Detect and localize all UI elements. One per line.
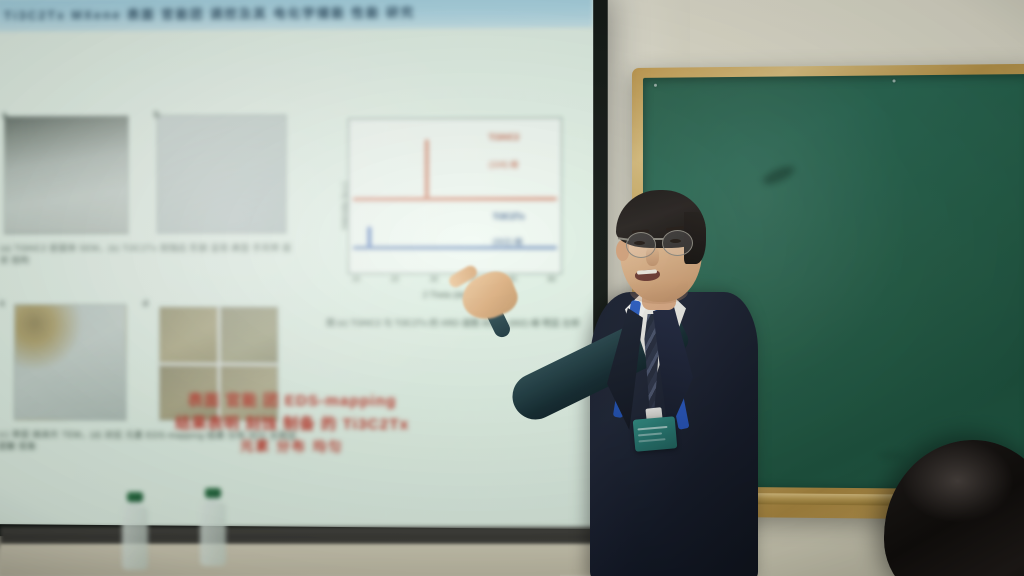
frame-screw xyxy=(654,84,657,87)
legend-ti3alc2: Ti3AlC2 xyxy=(489,133,520,142)
conclusion-text-3: 元素 分布 均匀 xyxy=(240,438,343,454)
chin-shadow xyxy=(630,280,688,304)
slide-title-text: Ti3C2Tx MXene 表面 官能团 调控及其 电化学储能 性能 研究 xyxy=(0,3,415,23)
bottle-cap xyxy=(205,488,221,498)
badge-text-line xyxy=(639,438,666,442)
bottle-body xyxy=(122,506,148,570)
panel-b-label: b xyxy=(154,109,160,119)
peak-104 xyxy=(425,139,429,200)
chart-ylabel: Intensity (a.u.) xyxy=(340,182,349,230)
conclusion-text-1: 表面 官能 团 EDS-mapping xyxy=(188,392,397,410)
bottle-cap xyxy=(127,492,143,502)
water-bottle xyxy=(122,492,150,576)
eyeglass-bridge xyxy=(653,238,663,240)
frame-screw xyxy=(892,79,895,82)
eyeglass-lens-right xyxy=(662,230,693,256)
eds-quadrant xyxy=(160,307,217,362)
bottle-body xyxy=(200,502,226,566)
annotation-104: (104) 峰 xyxy=(489,159,519,170)
presenter xyxy=(470,180,800,576)
presentation-photo-scene: Ti3C2Tx MXene 表面 官能团 调控及其 电化学储能 性能 研究 a … xyxy=(0,0,1024,576)
xtick: 10 xyxy=(352,276,360,283)
peak-002 xyxy=(367,227,371,249)
eye-right xyxy=(670,239,681,243)
panel-a-label: a xyxy=(2,110,7,120)
conference-badge xyxy=(633,416,678,452)
conclusion-text-2: 结果表明 刻蚀 制备 的 Ti3C2Tx xyxy=(175,415,409,433)
xtick: 30 xyxy=(430,276,438,283)
badge-text-line xyxy=(638,432,662,436)
eds-quadrant xyxy=(220,307,277,362)
xtick: 20 xyxy=(391,276,399,283)
slide-title-banner: Ti3C2Tx MXene 表面 官能团 调控及其 电化学储能 性能 研究 xyxy=(0,0,593,32)
eye-left xyxy=(634,241,645,245)
panel-b-sem xyxy=(157,115,287,234)
water-bottle xyxy=(200,488,228,576)
chalk-smudge xyxy=(877,452,904,459)
panel-d-label: d xyxy=(143,298,149,308)
panel-a-sem xyxy=(4,115,129,234)
badge-text-line xyxy=(637,426,667,431)
nose xyxy=(646,246,659,266)
caption-top-left: (a) Ti3AlC2 前驱体 SEM，(b) Ti3C2Tx 刻蚀后 形貌 呈… xyxy=(0,242,295,267)
panel-c-label: c xyxy=(0,298,5,308)
